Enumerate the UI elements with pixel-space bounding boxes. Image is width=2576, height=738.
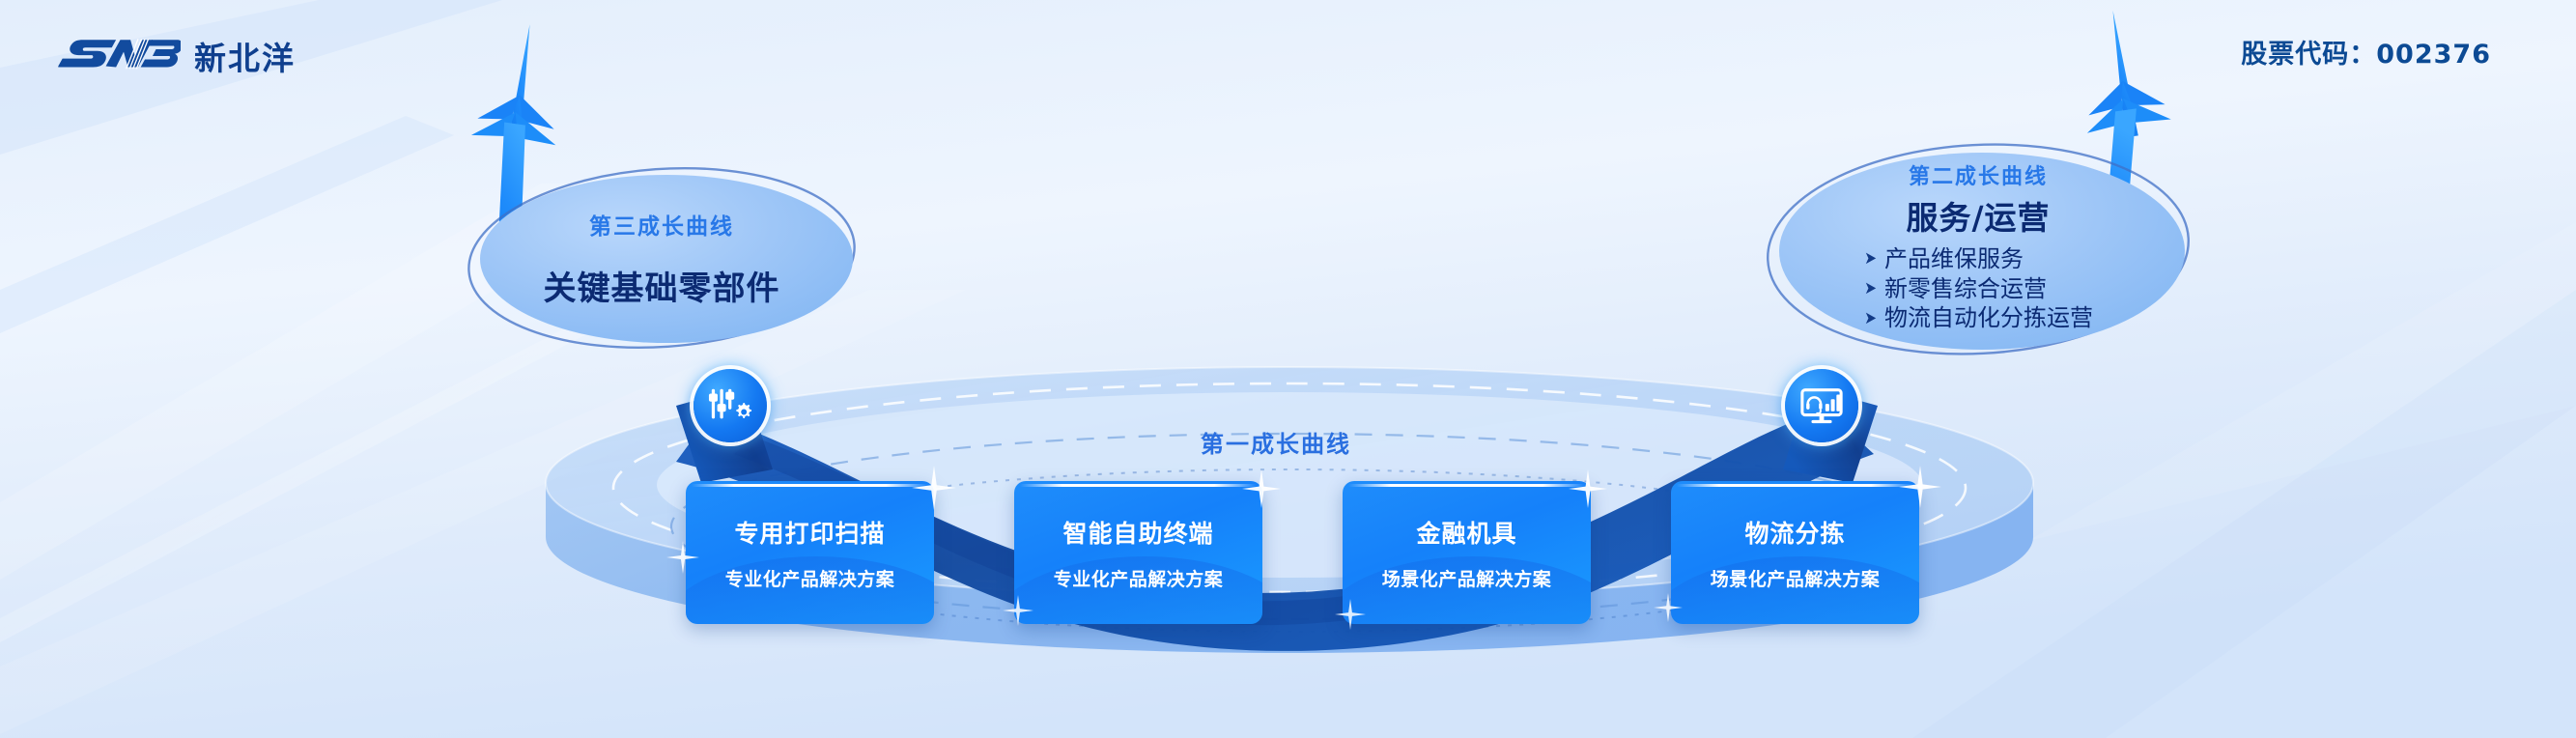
- card-top-highlight: [1020, 484, 1257, 487]
- card-title: 金融机具: [1416, 515, 1516, 550]
- product-card-logistics-sorting[interactable]: 物流分拣 场景化产品解决方案: [1671, 481, 1919, 624]
- product-card-financial-equipment[interactable]: 金融机具 场景化产品解决方案: [1343, 481, 1591, 624]
- background-artwork: [0, 0, 2576, 738]
- bubble-kicker-second: 第二成长曲线: [1785, 159, 2171, 190]
- chevron-right-icon: ➤: [1864, 280, 1877, 298]
- first-growth-curve-label: 第一成长曲线: [1201, 425, 1351, 459]
- list-item: ➤ 新零售综合运营: [1863, 274, 2093, 304]
- node-sliders-gear[interactable]: [694, 369, 767, 442]
- list-item: ➤ 产品维保服务: [1863, 244, 2093, 274]
- bubble-second-item-list: ➤ 产品维保服务 ➤ 新零售综合运营 ➤ 物流自动化分拣运营: [1863, 244, 2093, 333]
- card-subtitle: 专业化产品解决方案: [725, 565, 895, 591]
- list-item: ➤ 物流自动化分拣运营: [1863, 303, 2093, 333]
- monitor-headset-chart-icon: [1799, 383, 1844, 428]
- bubble-second-growth-curve[interactable]: 第二成长曲线 服务/运营 ➤ 产品维保服务 ➤ 新零售综合运营 ➤ 物流自动化分…: [1785, 135, 2171, 357]
- card-title: 智能自助终端: [1062, 515, 1213, 550]
- infographic-canvas: 新北洋 股票代码：002376 第三成长曲线 关键基础零部件 第二成长曲线 服务…: [0, 0, 2576, 738]
- list-item-label: 物流自动化分拣运营: [1884, 303, 2093, 333]
- snbc-logo-icon: [53, 34, 181, 78]
- chevron-right-icon: ➤: [1864, 310, 1877, 327]
- card-subtitle: 场景化产品解决方案: [1711, 565, 1881, 591]
- product-card-print-scan[interactable]: 专用打印扫描 专业化产品解决方案: [686, 481, 934, 624]
- bubble-kicker-third: 第三成长曲线: [483, 208, 840, 241]
- card-top-highlight: [692, 484, 928, 487]
- card-subtitle: 专业化产品解决方案: [1054, 565, 1224, 591]
- stock-code-label: 股票代码：002376: [2241, 33, 2491, 71]
- brand-logo: 新北洋: [53, 33, 296, 79]
- card-top-highlight: [1348, 484, 1585, 487]
- sliders-gear-icon: [708, 383, 752, 428]
- bubble-title-second: 服务/运营: [1785, 192, 2171, 239]
- list-item-label: 新零售综合运营: [1884, 274, 2047, 304]
- card-title: 物流分拣: [1744, 515, 1845, 550]
- product-card-self-service-terminal[interactable]: 智能自助终端 专业化产品解决方案: [1014, 481, 1262, 624]
- card-title: 专用打印扫描: [734, 515, 885, 550]
- card-top-highlight: [1677, 484, 1913, 487]
- bubble-third-growth-curve[interactable]: 第三成长曲线 关键基础零部件: [483, 169, 840, 348]
- brand-name-cn: 新北洋: [194, 33, 296, 79]
- chevron-right-icon: ➤: [1864, 250, 1877, 268]
- list-item-label: 产品维保服务: [1884, 244, 2024, 274]
- bubble-title-third: 关键基础零部件: [483, 262, 840, 309]
- card-subtitle: 场景化产品解决方案: [1382, 565, 1552, 591]
- node-monitor-headset-chart[interactable]: [1785, 369, 1858, 442]
